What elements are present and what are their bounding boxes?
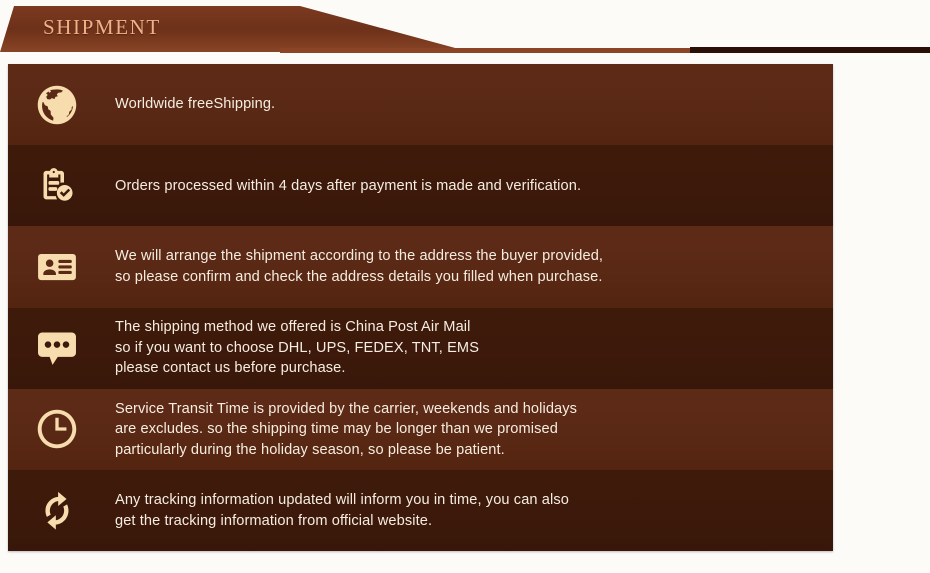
shipment-row-text: Service Transit Time is provided by the …: [88, 399, 833, 461]
refresh-icon: [26, 489, 88, 533]
shipment-row-text: Worldwide freeShipping.: [88, 94, 833, 115]
clock-icon: [26, 407, 88, 451]
header-rule-dark: [690, 47, 930, 53]
globe-icon: [26, 83, 88, 127]
shipment-rows-panel: Worldwide freeShipping. Orders processed…: [8, 64, 833, 551]
shipment-row: The shipping method we offered is China …: [8, 308, 833, 389]
header-rule-light: [280, 48, 692, 53]
id-card-icon: [26, 245, 88, 289]
shipment-row: Service Transit Time is provided by the …: [8, 389, 833, 470]
shipment-row-text: Any tracking information updated will in…: [88, 490, 833, 531]
shipment-row-text: Orders processed within 4 days after pay…: [88, 176, 833, 197]
shipment-row: We will arrange the shipment according t…: [8, 226, 833, 307]
clipboard-check-icon: [26, 164, 88, 208]
chat-bubble-icon: [26, 326, 88, 370]
page-title: SHIPMENT: [43, 17, 161, 38]
shipment-row: Any tracking information updated will in…: [8, 470, 833, 551]
shipment-row-text: The shipping method we offered is China …: [88, 317, 833, 379]
shipment-row-text: We will arrange the shipment according t…: [88, 246, 833, 287]
shipment-row: Orders processed within 4 days after pay…: [8, 145, 833, 226]
shipment-infographic: SHIPMENT Worldwide freeShipping. Orders …: [0, 0, 930, 573]
shipment-row: Worldwide freeShipping.: [8, 64, 833, 145]
